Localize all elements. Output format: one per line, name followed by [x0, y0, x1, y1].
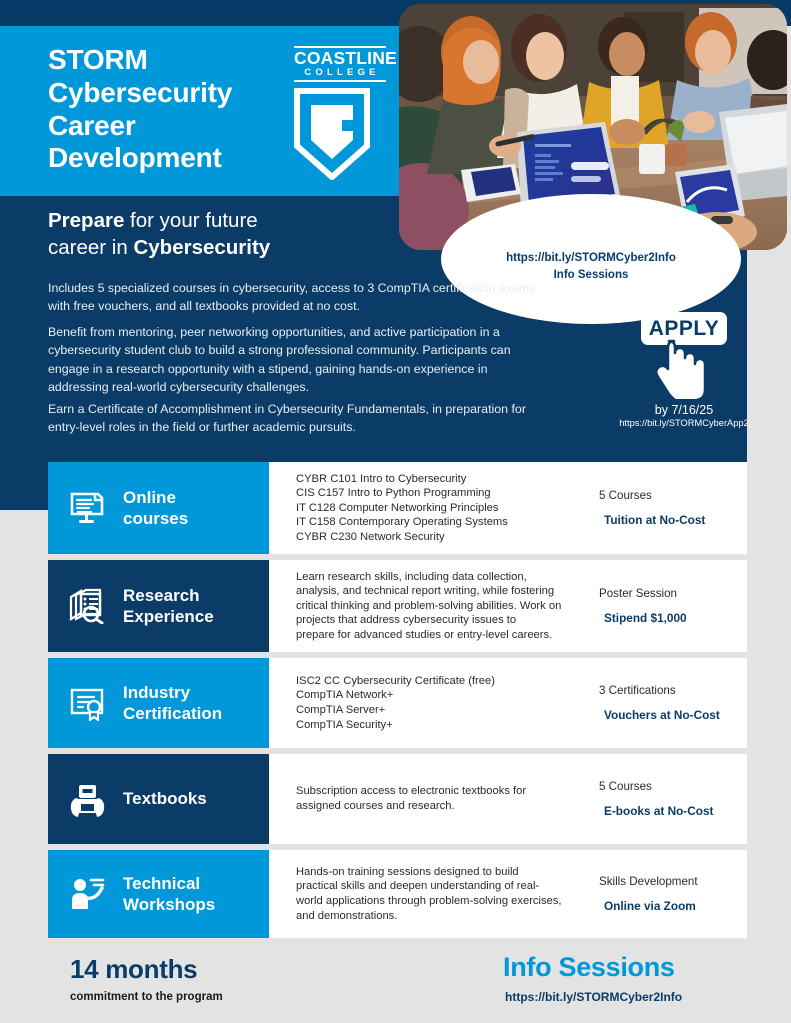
lead-heading: Prepare for your future career in Cybers…: [48, 208, 388, 261]
intro-paragraph-3: Earn a Certificate of Accomplishment in …: [48, 400, 548, 437]
apply-deadline: by 7/16/25: [614, 403, 754, 417]
desc-line: critical thinking and problem-solving ab…: [296, 599, 577, 614]
logo-wordmark: COASTLINE: [294, 50, 386, 68]
table-row: Industry Certification ISC2 CC Cybersecu…: [48, 658, 747, 748]
table-row: Technical Workshops Hands-on training se…: [48, 850, 747, 938]
desc-line: Subscription access to electronic textbo…: [296, 784, 577, 799]
row-meta-count: Skills Development: [599, 875, 747, 888]
row-meta-technical-workshops: Skills Development Online via Zoom: [577, 875, 747, 913]
desc-line: CIS C157 Intro to Python Programming: [296, 486, 577, 501]
desc-line: CYBR C230 Network Security: [296, 530, 577, 545]
desc-line: Learn research skills, including data co…: [296, 570, 577, 585]
row-title-line-1: Online: [123, 487, 188, 508]
row-title-industry-certification: Industry Certification: [123, 682, 222, 725]
shield-icon: [294, 88, 370, 180]
row-title-line-1: Industry: [123, 682, 222, 703]
desc-line: world applications through problem-solvi…: [296, 894, 577, 909]
documents-search-icon: [69, 588, 109, 624]
row-desc-online-courses: CYBR C101 Intro to Cybersecurity CIS C15…: [269, 472, 577, 545]
apply-button[interactable]: APPLY: [641, 312, 727, 345]
footer-info-url[interactable]: https://bit.ly/STORMCyber2Info: [503, 990, 682, 1004]
lead-bold-cybersecurity: Cybersecurity: [133, 236, 270, 259]
desc-line: CompTIA Security+: [296, 718, 577, 733]
lead-heading-line-1: Prepare for your future: [48, 208, 388, 235]
row-title-research-experience: Research Experience: [123, 585, 214, 628]
row-title-line-2: Workshops: [123, 894, 215, 915]
desc-line: practical skills and deepen understandin…: [296, 879, 577, 894]
row-meta-count: Poster Session: [599, 587, 747, 600]
row-body-textbooks: Subscription access to electronic textbo…: [269, 754, 747, 844]
desc-line: ISC2 CC Cybersecurity Certificate (free): [296, 674, 577, 689]
footer-info-title: Info Sessions: [503, 952, 682, 983]
row-body-research-experience: Learn research skills, including data co…: [269, 560, 747, 652]
footer-duration: 14 months: [70, 954, 223, 985]
row-label-research-experience[interactable]: Research Experience: [48, 560, 269, 652]
table-row: Textbooks Subscription access to electro…: [48, 754, 747, 844]
footer: 14 months commitment to the program Info…: [0, 940, 791, 1023]
desc-line: and demonstrations.: [296, 909, 577, 924]
program-rows: Online courses CYBR C101 Intro to Cybers…: [48, 462, 747, 944]
row-title-line-2: Experience: [123, 606, 214, 627]
intro-paragraph-2: Benefit from mentoring, peer networking …: [48, 323, 548, 396]
row-desc-research-experience: Learn research skills, including data co…: [269, 570, 577, 643]
row-body-industry-certification: ISC2 CC Cybersecurity Certificate (free)…: [269, 658, 747, 748]
desc-line: CompTIA Network+: [296, 688, 577, 703]
row-meta-textbooks: 5 Courses E-books at No-Cost: [577, 780, 747, 818]
lead-thin-rest-2: career in: [48, 236, 133, 259]
coastline-college-logo: COASTLINE COLLEGE: [294, 44, 386, 174]
logo-subtitle: COLLEGE: [294, 67, 386, 78]
row-label-technical-workshops[interactable]: Technical Workshops: [48, 850, 269, 938]
row-title-line-1: Technical: [123, 873, 215, 894]
lead-thin-rest-1: for your future: [124, 209, 257, 232]
desc-line: analysis, and technical report writing, …: [296, 584, 577, 599]
row-body-online-courses: CYBR C101 Intro to Cybersecurity CIS C15…: [269, 462, 747, 554]
footer-info-block: Info Sessions https://bit.ly/STORMCyber2…: [503, 952, 682, 1004]
footer-duration-sub: commitment to the program: [70, 991, 223, 1003]
table-row: Research Experience Learn research skill…: [48, 560, 747, 652]
book-in-hands-icon: [69, 781, 109, 817]
desc-line: IT C158 Contemporary Operating Systems: [296, 515, 577, 530]
intro-paragraph-1: Includes 5 specialized courses in cybers…: [48, 279, 548, 316]
desc-line: CYBR C101 Intro to Cybersecurity: [296, 472, 577, 487]
row-body-technical-workshops: Hands-on training sessions designed to b…: [269, 850, 747, 938]
presenter-person-icon: [69, 876, 109, 912]
row-meta-online-courses: 5 Courses Tuition at No-Cost: [577, 489, 747, 527]
row-label-textbooks[interactable]: Textbooks: [48, 754, 269, 844]
desc-line: prepare for advanced studies or entry-le…: [296, 628, 577, 643]
desc-line: Hands-on training sessions designed to b…: [296, 865, 577, 880]
row-title-technical-workshops: Technical Workshops: [123, 873, 215, 916]
desc-line: CompTIA Server+: [296, 703, 577, 718]
row-meta-benefit: E-books at No-Cost: [599, 804, 747, 818]
row-meta-industry-certification: 3 Certifications Vouchers at No-Cost: [577, 684, 747, 722]
footer-duration-block: 14 months commitment to the program: [70, 954, 223, 1003]
row-title-textbooks: Textbooks: [123, 788, 207, 809]
row-title-line-1: Research: [123, 585, 214, 606]
row-title-online-courses: Online courses: [123, 487, 188, 530]
certificate-icon: [69, 685, 109, 721]
lead-heading-line-2: career in Cybersecurity: [48, 235, 388, 262]
info-sessions-url[interactable]: https://bit.ly/STORMCyber2Info: [441, 250, 741, 267]
apply-callout[interactable]: APPLY by 7/16/25 https://bit.ly/STORMCyb…: [614, 312, 754, 428]
row-desc-technical-workshops: Hands-on training sessions designed to b…: [269, 865, 577, 923]
lead-bold-prepare: Prepare: [48, 209, 124, 232]
monitor-courses-icon: [69, 490, 109, 526]
row-meta-count: 5 Courses: [599, 489, 747, 502]
row-meta-count: 5 Courses: [599, 780, 747, 793]
row-meta-benefit: Vouchers at No-Cost: [599, 708, 747, 722]
desc-line: projects that address cybersecurity issu…: [296, 613, 577, 628]
row-meta-benefit: Online via Zoom: [599, 899, 747, 913]
row-label-online-courses[interactable]: Online courses: [48, 462, 269, 554]
apply-url[interactable]: https://bit.ly/STORMCyberApp2: [614, 418, 754, 428]
pointing-hand-icon: [648, 337, 720, 399]
desc-line: IT C128 Computer Networking Principles: [296, 501, 577, 516]
row-meta-count: 3 Certifications: [599, 684, 747, 697]
row-title-line-1: Textbooks: [123, 788, 207, 809]
row-label-industry-certification[interactable]: Industry Certification: [48, 658, 269, 748]
row-meta-benefit: Tuition at No-Cost: [599, 513, 747, 527]
row-meta-benefit: Stipend $1,000: [599, 611, 747, 625]
row-desc-industry-certification: ISC2 CC Cybersecurity Certificate (free)…: [269, 674, 577, 732]
row-title-line-2: courses: [123, 508, 188, 529]
poster-root: STORM Cybersecurity Career Development C…: [0, 0, 791, 1023]
row-title-line-2: Certification: [123, 703, 222, 724]
row-desc-textbooks: Subscription access to electronic textbo…: [269, 784, 577, 813]
desc-line: assigned courses and research.: [296, 799, 577, 814]
logo-divider-bottom: [294, 80, 386, 82]
row-meta-research-experience: Poster Session Stipend $1,000: [577, 587, 747, 625]
table-row: Online courses CYBR C101 Intro to Cybers…: [48, 462, 747, 554]
